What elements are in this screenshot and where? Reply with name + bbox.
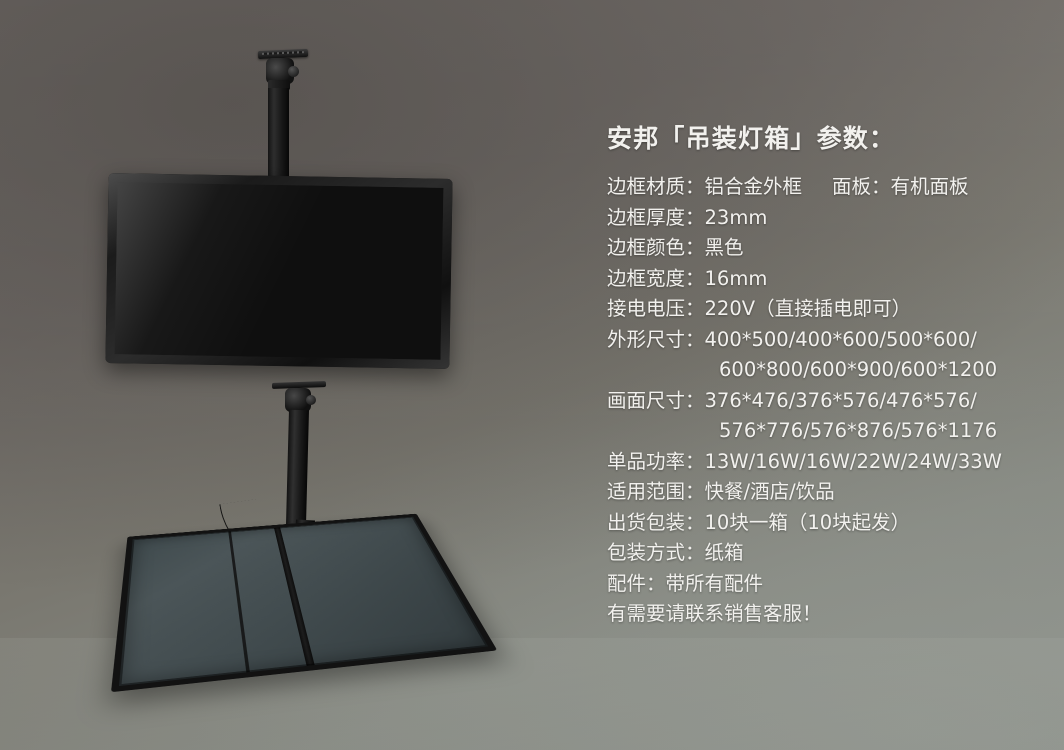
- spec-value: 快餐/酒店/饮品: [705, 477, 835, 508]
- spec-value: 16mm: [705, 264, 768, 295]
- spec-value: 10块一箱（10块起发）: [705, 508, 911, 539]
- spec-value: 220V（直接插电即可）: [705, 294, 912, 325]
- spec-row: 单品功率： 13W/16W/16W/22W/24W/33W: [607, 447, 1047, 478]
- spec-row: 出货包装： 10块一箱（10块起发）: [607, 508, 1047, 539]
- spec-row: 配件： 带所有配件: [607, 569, 1047, 600]
- spec-row: 边框厚度： 23mm: [607, 203, 1047, 234]
- spec-row: 边框颜色： 黑色: [607, 233, 1047, 264]
- spec-contact-line: 有需要请联系销售客服！: [607, 599, 1047, 630]
- spec-key: 边框厚度：: [607, 203, 705, 234]
- spec-row: 外形尺寸： 400*500/400*600/500*600/: [607, 325, 1047, 356]
- spec-row: 边框宽度： 16mm: [607, 264, 1047, 295]
- spec-value: 黑色: [705, 233, 744, 264]
- spec-value: 400*500/400*600/500*600/: [705, 325, 977, 356]
- spec-key: 单品功率：: [607, 447, 705, 478]
- spec-title: 安邦「吊装灯箱」参数：: [607, 122, 1047, 156]
- spec-row: 适用范围： 快餐/酒店/饮品: [607, 477, 1047, 508]
- spec-value: 576*776/576*876/576*1176: [719, 416, 997, 447]
- spec-key: 边框宽度：: [607, 264, 705, 295]
- spec-row: 包装方式： 纸箱: [607, 538, 1047, 569]
- spec-key: 边框颜色：: [607, 233, 705, 264]
- spec-value: 376*476/376*576/476*576/: [705, 386, 977, 417]
- menu-lightbox: 夏日 酷饮 奶茶类 珍珠奶茶（热/冷）10元/杯 椰果奶茶10元/杯 红豆奶茶1…: [105, 173, 452, 369]
- spec-value: 带所有配件: [666, 569, 764, 600]
- upper-support-pole: [268, 88, 289, 186]
- lower-pivot-joint-icon: [285, 388, 311, 412]
- lightbox-frame: [105, 173, 452, 369]
- product-photo-scene: 夏日 酷饮 奶茶类 珍珠奶茶（热/冷）10元/杯 椰果奶茶10元/杯 红豆奶茶1…: [0, 0, 1064, 750]
- spec-key: 接电电压：: [607, 294, 705, 325]
- spec-extra: 面板：有机面板: [802, 172, 969, 203]
- spec-row-continuation: 576*776/576*876/576*1176: [607, 416, 1047, 447]
- spec-row: 接电电压： 220V（直接插电即可）: [607, 294, 1047, 325]
- spec-key: 包装方式：: [607, 538, 705, 569]
- spec-row: 画面尺寸： 376*476/376*576/476*576/: [607, 386, 1047, 417]
- spec-key: 画面尺寸：: [607, 386, 705, 417]
- spec-key: 边框材质：: [607, 172, 705, 203]
- spec-value: 有需要请联系销售客服！: [607, 599, 822, 630]
- spec-value: 23mm: [705, 203, 768, 234]
- spec-row-continuation: 600*800/600*900/600*1200: [607, 355, 1047, 386]
- spec-value: 600*800/600*900/600*1200: [719, 355, 997, 386]
- spec-key: 适用范围：: [607, 477, 705, 508]
- spec-value: 铝合金外框: [705, 172, 803, 203]
- spec-key: 出货包装：: [607, 508, 705, 539]
- spec-key: 配件：: [607, 569, 666, 600]
- spec-key: 外形尺寸：: [607, 325, 705, 356]
- spec-value: 纸箱: [705, 538, 744, 569]
- spec-value: 13W/16W/16W/22W/24W/33W: [705, 447, 1002, 478]
- spec-panel: 安邦「吊装灯箱」参数： 边框材质： 铝合金外框 面板：有机面板 边框厚度： 23…: [607, 122, 1047, 630]
- spec-row: 边框材质： 铝合金外框 面板：有机面板: [607, 172, 1047, 203]
